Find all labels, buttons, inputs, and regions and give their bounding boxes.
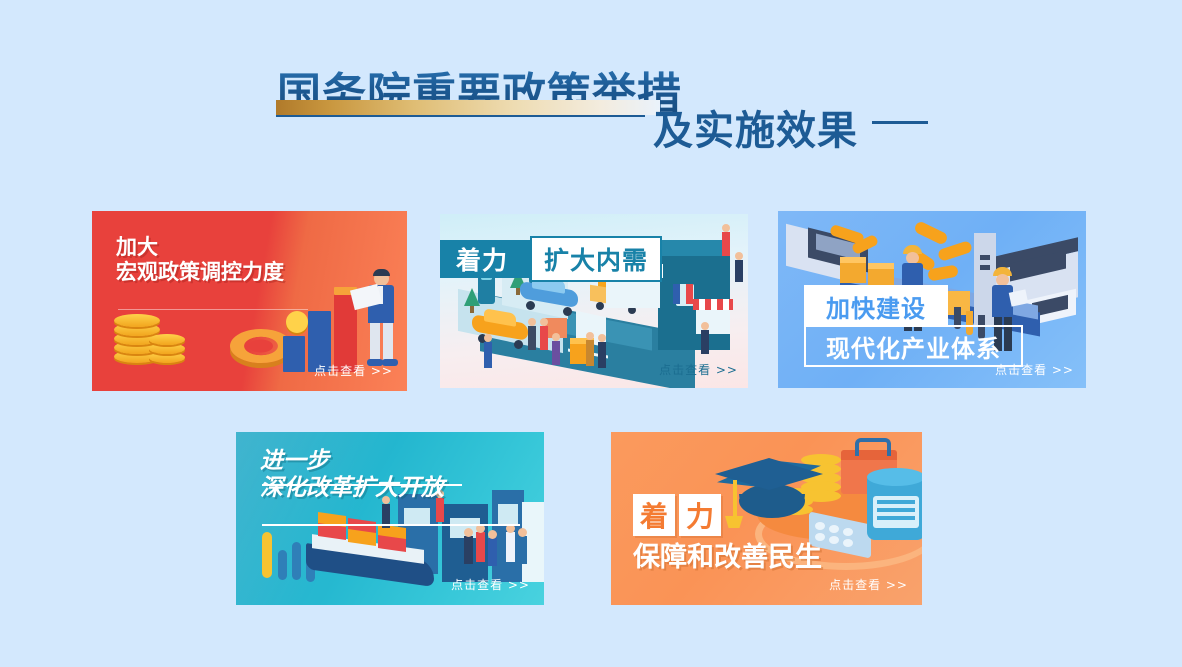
page-header: 国务院重要政策举措 及实施效果 (0, 0, 1182, 180)
card4-title-rule-1 (262, 484, 462, 486)
card-safeguard-improve-livelihood[interactable]: 着 力 保障和改善民生 点击查看 >> (611, 432, 922, 605)
page-root: 国务院重要政策举措 及实施效果 (0, 0, 1182, 667)
card-modern-industrial-system[interactable]: 加快建设 现代化产业体系 点击查看 >> (778, 211, 1086, 388)
card3-cta-link[interactable]: 点击查看 >> (995, 361, 1074, 378)
card5-title: 保障和改善民生 (633, 542, 822, 574)
card2-tag-solid: 着力 (440, 240, 530, 278)
card-macro-policy-regulation[interactable]: 加大 宏观政策调控力度 点击查看 >> (92, 211, 407, 391)
card4-title: 进一步 深化改革扩大开放 (260, 448, 444, 502)
card2-tag-outline: 扩大内需 (530, 236, 662, 282)
card3-tag-box: 加快建设 (804, 285, 948, 327)
card1-title: 加大 宏观政策调控力度 (116, 235, 284, 285)
title-underline (276, 115, 645, 117)
card5-title-line: 保障和改善民生 (633, 542, 822, 574)
card1-title-rule (118, 309, 308, 310)
card1-title-line2: 宏观政策调控力度 (116, 260, 284, 285)
card4-title-line1: 进一步 (260, 448, 444, 475)
page-subtitle: 及实施效果 (653, 98, 858, 156)
card1-title-line1: 加大 (116, 235, 284, 260)
title-gold-bar (276, 100, 660, 115)
card4-cta-link[interactable]: 点击查看 >> (451, 576, 530, 593)
card2-cta-link[interactable]: 点击查看 >> (659, 361, 738, 378)
title-dash-rule (872, 121, 928, 124)
card4-title-line2: 深化改革扩大开放 (260, 475, 444, 502)
card1-cta-link[interactable]: 点击查看 >> (314, 362, 393, 379)
card3-tag-line: 现代化产业体系 (804, 325, 1023, 367)
illustration-businessman (360, 271, 406, 373)
card-deepen-reform-opening-up[interactable]: 进一步 深化改革扩大开放 点击查看 >> (236, 432, 544, 605)
card5-tag-char-1: 着 (633, 494, 675, 536)
card-expand-domestic-demand[interactable]: 着力 扩大内需 点击查看 >> (440, 214, 748, 388)
card4-title-rule-2 (262, 524, 520, 526)
card5-tag-char-2: 力 (679, 494, 721, 536)
card5-cta-link[interactable]: 点击查看 >> (829, 576, 908, 593)
